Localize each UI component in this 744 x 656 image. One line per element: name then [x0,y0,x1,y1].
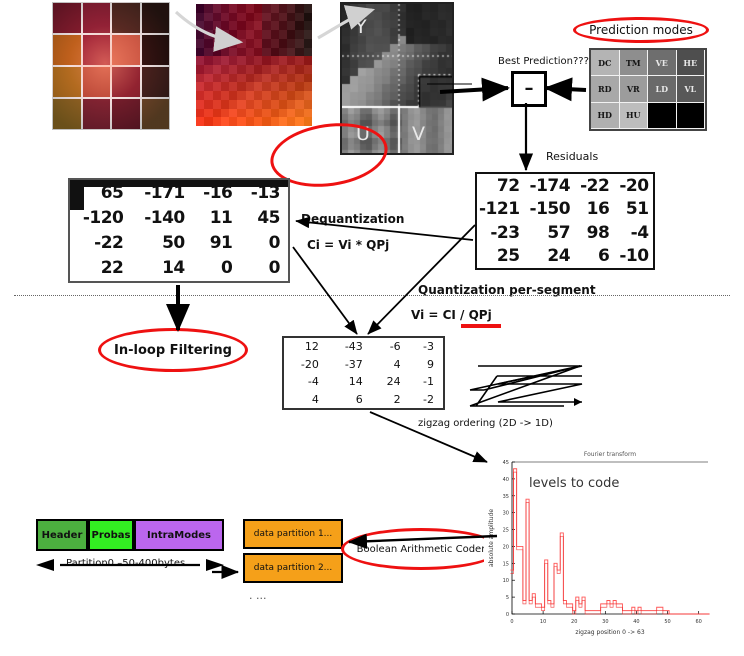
boolean-arithmetic-coder-label: Boolean Arithmetic Coder [341,528,501,570]
chart-y-tick-label: 45 [503,460,509,466]
quantized-cell: -2 [410,391,443,409]
coefficient-cell: -22 [70,231,131,256]
coefficient-cell: 11 [193,205,241,230]
coefficient-cell: 0 [240,256,288,281]
prediction-mode-dc: DC [591,50,620,76]
quantized-row: -41424-1 [284,373,443,391]
prediction-mode-tm: TM [620,50,649,76]
residual-cell: 72 [477,174,528,198]
chart-y-axis-label: absolute amplitude [488,509,495,567]
zoomed-macroblock-image [196,4,312,126]
residual-cell: 51 [617,198,656,222]
chart-y-tick-label: 20 [503,544,509,550]
chart-y-tick-label: 35 [503,494,509,500]
chart-x-tick-label: 0 [510,619,513,625]
residual-cell: -121 [477,198,528,222]
quantized-cell: 6 [328,391,372,409]
chart-x-tick-label: 60 [695,619,701,625]
prediction-mode-label: HD [598,110,613,120]
chart-y-tick-label: 5 [506,595,509,601]
quantized-cell: -1 [410,373,443,391]
levels-to-code-annotation: levels to code [529,476,619,491]
residual-row: -121-1501651 [477,198,657,222]
quantization-formula: Vi = CI / QPj [411,308,492,322]
prediction-mode-he: HE [677,50,706,76]
zigzag-scan-icon [462,362,587,408]
coefficients-dc-marker [70,180,84,210]
coefficient-cell: 22 [70,256,131,281]
data-partitions-ellipsis: . ... [249,589,266,602]
data-partition-block[interactable]: data partition 2... [243,553,343,583]
quantized-cell: -4 [284,373,328,391]
prediction-mode-label: DC [598,58,611,68]
quantized-row: 462-2 [284,391,443,409]
coefficients-matrix: 65-171-16-13-120-1401145-2250910221400 [68,178,290,283]
residual-cell: 98 [578,221,617,245]
residuals-matrix: 72-174-22-20-121-1501651-235798-425246-1… [475,172,655,270]
partition0-blocks: HeaderProbasIntraModes [36,519,224,551]
chart-svg: 0102030405060051015202530354045Fourier t… [484,444,722,642]
partition0-block-header[interactable]: Header [36,519,88,551]
partition0-block-probas[interactable]: Probas [88,519,134,551]
prediction-modes-grid: DCTMVEHERDVRLDVLHDHU [589,48,707,131]
chart-y-tick-label: 0 [506,612,509,618]
coefficient-cell: 50 [131,231,192,256]
coefficient-cell: 91 [193,231,241,256]
chart-y-tick-label: 40 [503,477,509,483]
pipeline-divider [14,295,730,296]
dequantization-formula: Ci = Vi * QPj [307,238,389,252]
data-partition-block[interactable]: data partition 1... [243,519,343,549]
coefficient-row: 221400 [70,256,288,281]
chart-x-axis-label: zigzag position 0 -> 63 [575,629,644,636]
prediction-mode-ve: VE [648,50,677,76]
prediction-mode-hu: HU [620,103,649,129]
pixel-cell [304,117,312,126]
coefficient-cell: 0 [240,231,288,256]
quantized-cell: 9 [410,356,443,374]
residual-cell: -20 [617,174,656,198]
prediction-mode-label: TM [626,58,641,68]
prediction-mode-label: HE [683,58,697,68]
dequantization-label: Dequantization [301,212,404,226]
quantized-cell: -3 [410,338,443,356]
partition0-block-label: Probas [92,530,131,541]
residual-cell: 25 [477,245,528,269]
quantized-row: -20-3749 [284,356,443,374]
residual-row: 72-174-22-20 [477,174,657,198]
quantized-cell: 4 [284,391,328,409]
prediction-mode-empty [648,103,677,129]
residual-cell: 24 [528,245,579,269]
residual-cell: -23 [477,221,528,245]
residual-cell: -150 [528,198,579,222]
partition0-block-label: Header [42,530,83,541]
chart-y-tick-label: 25 [503,528,509,534]
quantized-cell: 4 [372,356,410,374]
qpj-underline [461,324,501,328]
chart-series-line-accent [510,472,709,614]
residual-cell: -4 [617,221,656,245]
best-prediction-label: Best Prediction??? [498,56,589,67]
coefficient-cell: 45 [240,205,288,230]
residuals-title: Residuals [546,150,598,163]
prediction-mode-label: VE [656,58,668,68]
quantized-cell: 24 [372,373,410,391]
prediction-mode-label: LD [655,84,668,94]
prediction-mode-empty [677,103,706,129]
quantized-levels-matrix: 12-43-6-3-20-3749-41424-1462-2 [282,336,445,410]
chart-title: Fourier transform [584,451,636,458]
residual-cell: -174 [528,174,579,198]
coefficient-amplitude-chart: 0102030405060051015202530354045Fourier t… [484,444,722,642]
zigzag-ordering-label: zigzag ordering (2D -> 1D) [418,418,553,429]
data-partitions-blocks: data partition 1...data partition 2... [243,519,343,583]
residual-cell: -10 [617,245,656,269]
quantized-cell: 14 [328,373,372,391]
coefficient-row: -120-1401145 [70,205,288,230]
quantized-cell: 2 [372,391,410,409]
prediction-mode-hd: HD [591,103,620,129]
mosaic-overlay [52,2,170,130]
chart-x-tick-label: 50 [664,619,670,625]
prediction-mode-label: VL [684,84,696,94]
chart-x-tick-label: 10 [540,619,546,625]
prediction-mode-vl: VL [677,76,706,102]
data-partition-label: data partition 1... [254,529,333,539]
coefficient-cell: 0 [193,256,241,281]
y-plane-label: Y [355,16,367,38]
data-partition-label: data partition 2... [254,563,333,573]
residual-row: -235798-4 [477,221,657,245]
prediction-mode-label: RD [598,84,612,94]
chart-x-tick-label: 20 [571,619,577,625]
quantized-cell: 12 [284,338,328,356]
residual-cell: -22 [578,174,617,198]
coefficient-row: -2250910 [70,231,288,256]
quantized-cell: -43 [328,338,372,356]
prediction-mode-vr: VR [620,76,649,102]
coefficients-top-bar [70,180,288,187]
coefficient-cell: -140 [131,205,192,230]
prediction-mode-label: VR [627,84,640,94]
subtract-operator-box: – [511,71,547,107]
inloop-filtering-label: In-loop Filtering [98,328,248,372]
chart-y-tick-label: 30 [503,511,509,517]
quantized-cell: -20 [284,356,328,374]
prediction-mode-rd: RD [591,76,620,102]
residual-cell: 6 [578,245,617,269]
coefficient-cell: 14 [131,256,192,281]
prediction-mode-ld: LD [648,76,677,102]
prediction-mode-label: HU [626,110,641,120]
chart-x-tick-label: 40 [633,619,639,625]
residual-cell: 57 [528,221,579,245]
chart-y-tick-label: 10 [503,578,509,584]
residual-cell: 16 [578,198,617,222]
v-plane-label: V [412,123,425,145]
chart-y-tick-label: 15 [503,561,509,567]
partition0-caption: Partition0 –50-400bytes [66,558,185,569]
source-frame-mosaic [52,2,170,130]
quantized-cell: -37 [328,356,372,374]
chart-x-tick-label: 30 [602,619,608,625]
partition0-block-label: IntraModes [147,530,211,541]
quantized-row: 12-43-6-3 [284,338,443,356]
residual-row: 25246-10 [477,245,657,269]
quantized-cell: -6 [372,338,410,356]
prediction-modes-title: Prediction modes [573,17,709,43]
partition0-block-intramodes[interactable]: IntraModes [134,519,224,551]
